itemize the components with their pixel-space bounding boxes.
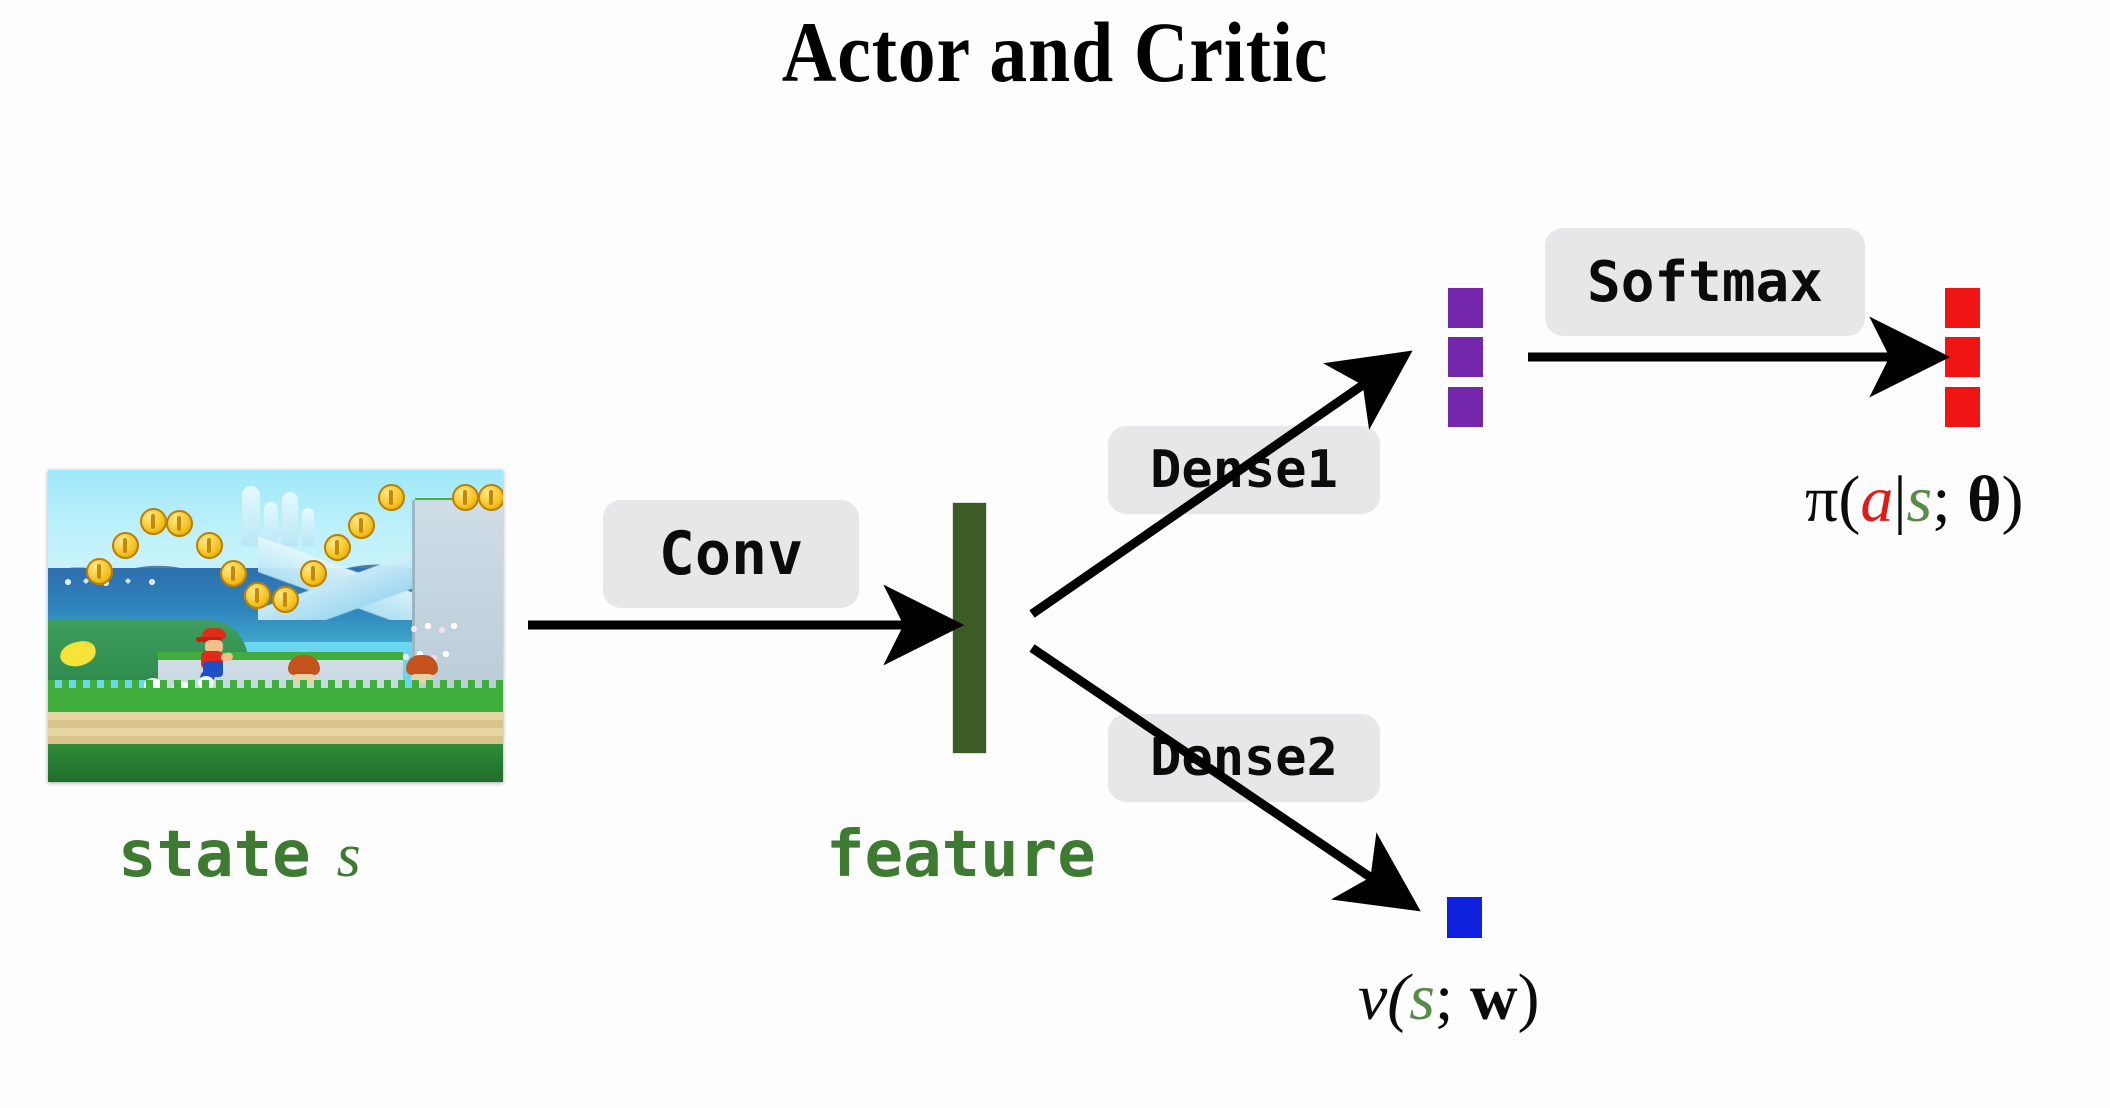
policy-formula-head: π(: [1805, 463, 1860, 536]
watermark-text: 哔哩人工智能学院: [1676, 16, 2012, 62]
ground-grass: [48, 688, 503, 714]
coin-icon: [348, 512, 375, 539]
coin-icon: [378, 484, 405, 511]
water-foam: [58, 576, 178, 588]
coin-icon: [196, 532, 223, 559]
watermark-bar-icon: [2024, 15, 2030, 59]
coin-icon: [86, 558, 113, 585]
coin-icon: [452, 484, 479, 511]
state-symbol: s: [337, 822, 361, 890]
policy-output-cell: [1945, 387, 1980, 427]
feature-caption: feature: [826, 818, 1096, 892]
value-formula-weights: w: [1470, 961, 1518, 1034]
flowers: [408, 620, 458, 636]
value-formula: v(s; w): [1358, 960, 1539, 1036]
state-caption-text: state: [118, 818, 311, 892]
slide-canvas: Actor and Critic 哔哩人工智能学院: [0, 0, 2110, 1108]
value-output-cell: [1447, 897, 1482, 938]
coin-icon: [300, 560, 327, 587]
policy-formula-action: a: [1860, 463, 1893, 536]
policy-output-cell: [1945, 288, 1980, 328]
ground-sand: [48, 712, 503, 746]
coin-icon: [112, 532, 139, 559]
coin-icon: [220, 560, 247, 587]
policy-formula-tail: ): [2002, 463, 2024, 536]
coin-icon: [324, 534, 351, 561]
policy-formula-bar: |: [1893, 463, 1906, 536]
dense1-output-cell: [1448, 337, 1483, 377]
state-game-screenshot: [48, 470, 503, 782]
dense1-output-cell: [1448, 288, 1483, 328]
value-formula-head: v(: [1358, 961, 1409, 1034]
value-formula-semicolon: ;: [1435, 961, 1453, 1034]
policy-formula-state: s: [1907, 463, 1933, 536]
coin-icon: [272, 586, 299, 613]
policy-output-cell: [1945, 337, 1980, 377]
conv-layer-box[interactable]: Conv: [603, 500, 859, 608]
policy-formula-semicolon: ;: [1932, 463, 1950, 536]
value-formula-tail: ): [1517, 961, 1539, 1034]
coin-icon: [166, 510, 193, 537]
policy-formula-theta: θ: [1967, 463, 2001, 536]
softmax-layer-box[interactable]: Softmax: [1545, 228, 1865, 336]
coin-icon: [244, 582, 271, 609]
value-formula-state: s: [1409, 961, 1435, 1034]
dense1-output-cell: [1448, 387, 1483, 427]
feature-vector-bar: [953, 503, 986, 753]
coin-icon: [478, 484, 503, 511]
coin-icon: [140, 508, 167, 535]
policy-formula: π(a|s; θ): [1805, 462, 2024, 538]
ground-bottom: [48, 744, 503, 782]
dense2-layer-box[interactable]: Dense2: [1108, 714, 1380, 802]
dense1-layer-box[interactable]: Dense1: [1108, 426, 1380, 514]
watermark: 哔哩人工智能学院: [1676, 6, 2030, 64]
state-caption: states: [118, 818, 361, 892]
